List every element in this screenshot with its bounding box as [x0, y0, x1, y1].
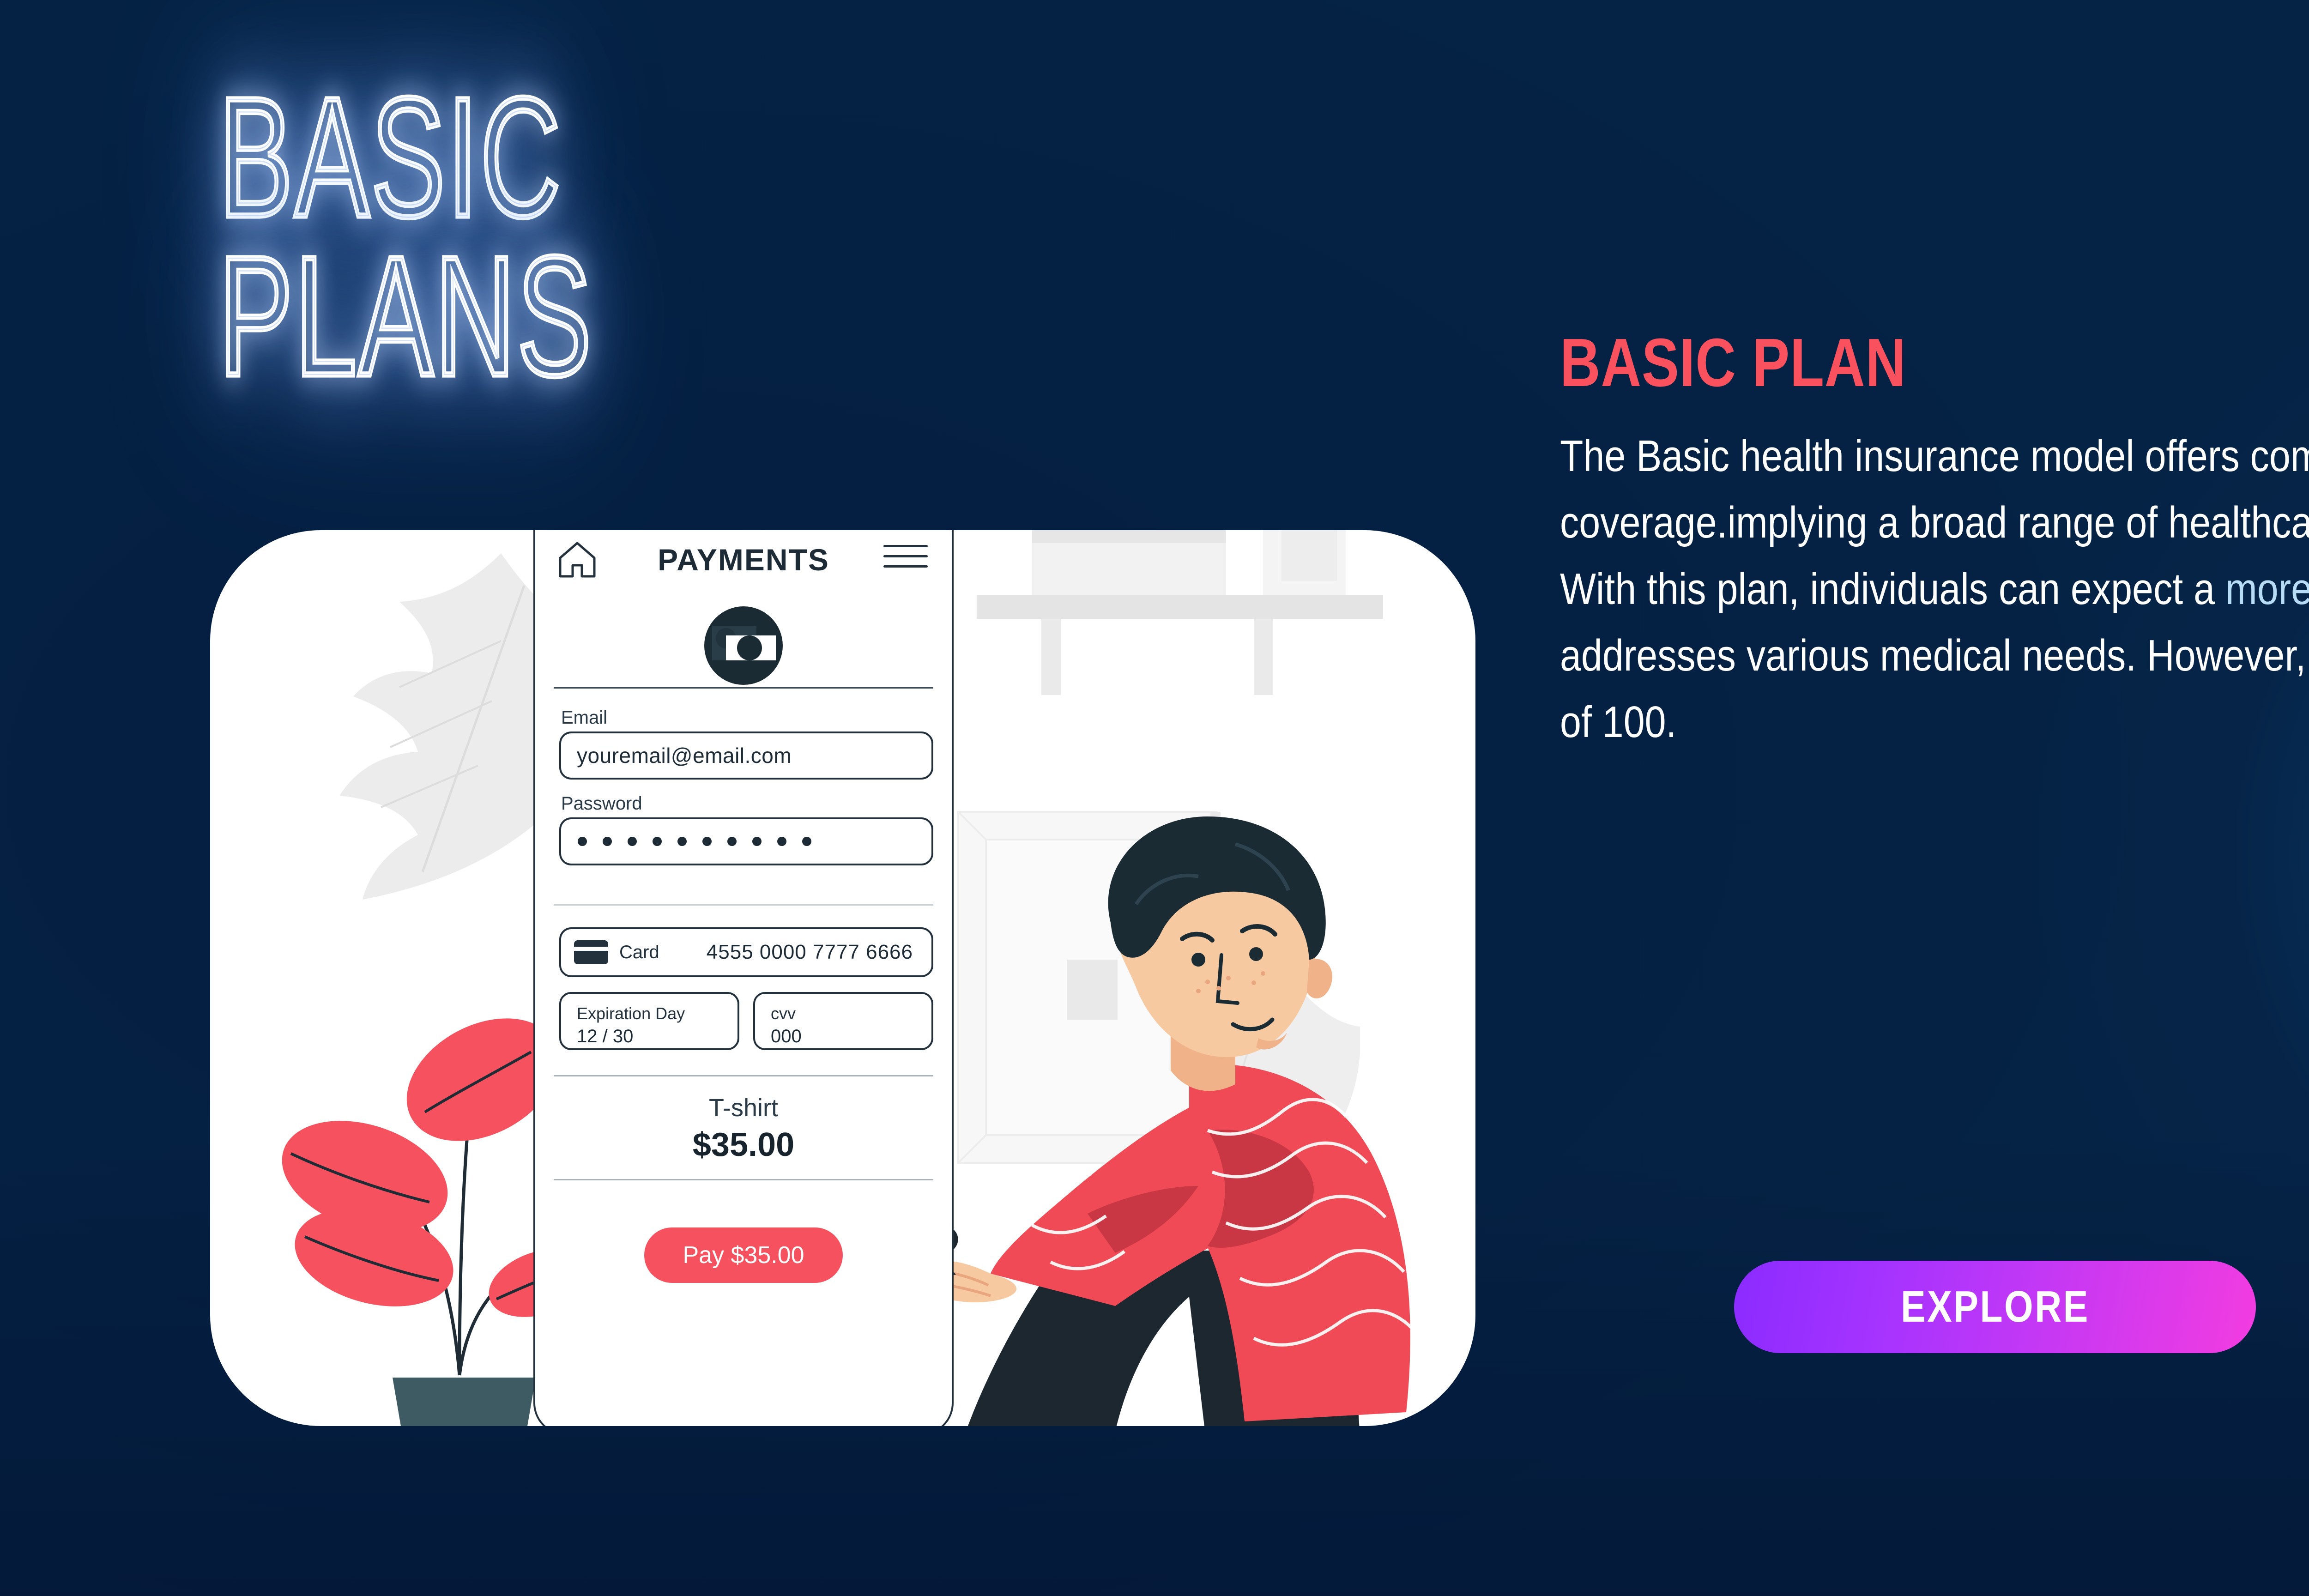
password-label: Password [561, 793, 642, 814]
explore-button-label: EXPLORE [1901, 1282, 2090, 1332]
email-field[interactable]: youremail@email.com [559, 731, 933, 780]
plan-info-column: BASIC PLAN The Basic health insurance mo… [1560, 329, 2309, 756]
password-field[interactable] [559, 817, 933, 865]
wallet-logo-icon [702, 604, 785, 687]
divider-top [554, 687, 933, 689]
item-price: $35.00 [535, 1126, 952, 1164]
neon-line-2-inner: PLANS [219, 236, 593, 395]
phone-payment-screen: PAYMENTS Email youremail@email.com Passw… [533, 530, 954, 1426]
neon-logo-line-1: BASIC BASIC [219, 78, 773, 236]
plan-description-highlight: more [2225, 564, 2309, 614]
email-value: youremail@email.com [561, 743, 792, 768]
neon-logo-line-2: PLANS PLANS [219, 236, 773, 395]
cvv-field[interactable]: cvv 000 [753, 992, 933, 1050]
promo-banner: BASIC BASIC PLANS PLANS [0, 0, 2309, 1596]
hamburger-menu-icon[interactable] [883, 545, 928, 574]
cvv-value: 000 [771, 1026, 802, 1047]
item-name: T-shirt [535, 1094, 952, 1122]
expiration-label: Expiration Day [577, 1004, 685, 1023]
cvv-label: cvv [771, 1004, 796, 1023]
divider-pay [554, 1179, 933, 1180]
card-number-value: 4555 0000 7777 6666 [707, 941, 913, 964]
expiration-value: 12 / 30 [577, 1026, 633, 1047]
neon-logo: BASIC BASIC PLANS PLANS [219, 78, 773, 395]
explore-button[interactable]: EXPLORE [1734, 1261, 2256, 1353]
plan-title: BASIC PLAN [1560, 329, 2309, 397]
divider-order [554, 1075, 933, 1076]
plan-description-part1: The Basic health insurance model offers … [1560, 431, 2309, 614]
pay-button[interactable]: Pay $35.00 [644, 1227, 843, 1283]
password-masked-value [561, 837, 811, 846]
email-label: Email [561, 707, 607, 728]
card-label: Card [619, 942, 659, 963]
expiration-field[interactable]: Expiration Day 12 / 30 [559, 992, 739, 1050]
divider-middle [554, 904, 933, 906]
plan-description: The Basic health insurance model offers … [1560, 423, 2309, 756]
card-number-field[interactable]: Card 4555 0000 7777 6666 [559, 927, 933, 977]
wall-shelf-decor [977, 530, 1420, 724]
credit-card-icon [574, 940, 608, 964]
neon-line-1-inner: BASIC [219, 78, 562, 236]
illustration-card: PAYMENTS Email youremail@email.com Passw… [210, 530, 1475, 1426]
